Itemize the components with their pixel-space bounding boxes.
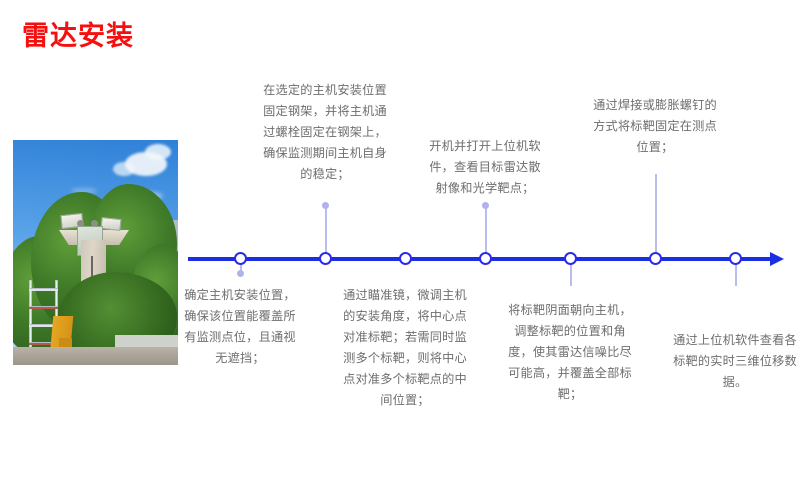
page-title: 雷达安装: [22, 22, 134, 52]
timeline-connector-2: [325, 206, 327, 258]
photo-radar-panel: [100, 217, 121, 231]
timeline-node-4[interactable]: [479, 252, 492, 265]
timeline-node-6[interactable]: [649, 252, 662, 265]
timeline-step-text-1: 确定主机安装位置，确保该位置能覆盖所有监测点位，且通视无遮挡；: [181, 285, 299, 369]
timeline-connector-dot-1: [237, 270, 244, 277]
timeline-step-text-6: 通过焊接或膨胀螺钉的方式将标靶固定在测点位置；: [592, 95, 718, 158]
timeline-step-text-7: 通过上位机软件查看各标靶的实时三维位移数据。: [671, 330, 799, 393]
timeline-node-1[interactable]: [234, 252, 247, 265]
timeline-connector-7: [735, 264, 737, 286]
timeline-connector-dot-4: [482, 202, 489, 209]
timeline-step-text-5: 将标靶阴面朝向主机，调整标靶的位置和角度，使其雷达信噪比尽可能高，并覆盖全部标靶…: [506, 300, 634, 405]
timeline-step-text-4: 开机并打开上位机软件，查看目标雷达散射像和光学靶点；: [426, 136, 544, 199]
timeline-step-text-2: 在选定的主机安装位置固定钢架，并将主机通过螺栓固定在钢架上，确保监测期间主机自身…: [261, 80, 389, 185]
timeline-node-3[interactable]: [399, 252, 412, 265]
timeline-connector-4: [485, 206, 487, 258]
timeline-connector-5: [570, 264, 572, 286]
photo-cloud: [145, 144, 171, 160]
timeline-node-7[interactable]: [729, 252, 742, 265]
timeline-arrow-icon: [770, 252, 784, 266]
site-photo: [13, 140, 178, 365]
photo-cloud: [113, 162, 135, 176]
timeline-connector-6: [655, 174, 657, 258]
timeline-step-text-3: 通过瞄准镜，微调主机的安装角度，将中心点对准标靶；若需同时监测多个标靶，则将中心…: [339, 285, 471, 411]
photo-ground: [13, 347, 178, 365]
timeline-connector-dot-2: [322, 202, 329, 209]
timeline-node-5[interactable]: [564, 252, 577, 265]
slide-canvas: 雷达安装: [0, 0, 800, 480]
ladder-rung: [29, 288, 58, 291]
ladder-rung: [29, 306, 58, 309]
timeline-node-2[interactable]: [319, 252, 332, 265]
